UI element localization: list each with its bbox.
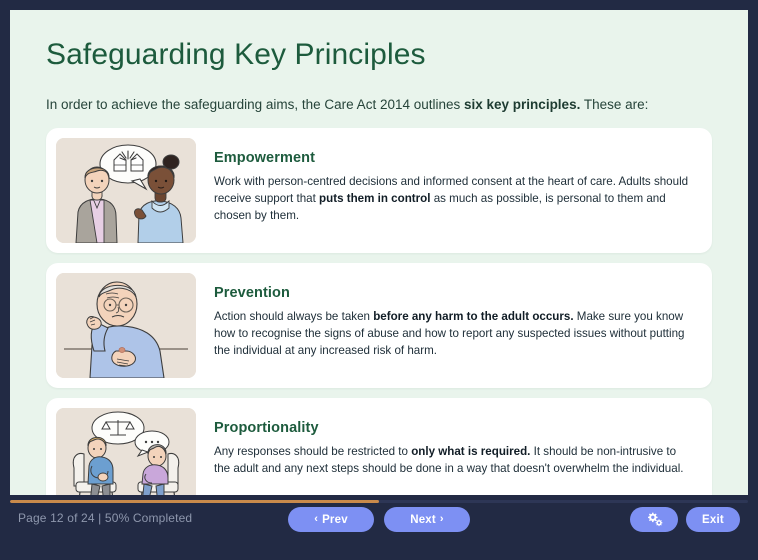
player-navigation-bar: Page 12 of 24 | 50% Completed ‹ Prev Nex… — [0, 495, 758, 560]
principle-description: Any responses should be restricted to on… — [214, 443, 690, 477]
next-button[interactable]: Next › — [384, 507, 470, 532]
prev-button[interactable]: ‹ Prev — [288, 507, 374, 532]
principle-card: Prevention Action should always be taken… — [46, 263, 712, 388]
chevron-left-icon: ‹ — [314, 514, 318, 525]
seated-consultation-scales-illustration — [56, 408, 196, 495]
prev-button-label: Prev — [322, 514, 348, 526]
center-navigation-group: ‹ Prev Next › — [288, 507, 470, 532]
gears-icon — [646, 512, 663, 527]
principle-description: Action should always be taken before any… — [214, 308, 690, 359]
page-title: Safeguarding Key Principles — [46, 38, 712, 73]
principle-body: Empowerment Work with person-centred dec… — [196, 138, 702, 224]
exit-button[interactable]: Exit — [686, 507, 740, 532]
course-player-frame: Safeguarding Key Principles In order to … — [0, 0, 758, 560]
slide-content-area: Safeguarding Key Principles In order to … — [10, 10, 748, 495]
principle-heading: Proportionality — [214, 420, 690, 436]
utility-navigation-group: Exit — [630, 507, 740, 532]
page-status-text: Page 12 of 24 | 50% Completed — [18, 511, 192, 525]
intro-suffix: These are: — [580, 97, 648, 112]
exit-button-label: Exit — [702, 514, 724, 526]
course-progress-fill — [10, 500, 379, 503]
principle-body: Proportionality Any responses should be … — [196, 408, 702, 477]
settings-button[interactable] — [630, 507, 678, 532]
intro-paragraph: In order to achieve the safeguarding aim… — [46, 95, 712, 115]
intro-emphasis: six key principles. — [464, 97, 580, 112]
principle-heading: Empowerment — [214, 150, 690, 166]
principle-body: Prevention Action should always be taken… — [196, 273, 702, 359]
intro-prefix: In order to achieve the safeguarding aim… — [46, 97, 464, 112]
chevron-right-icon: › — [440, 514, 444, 525]
next-button-label: Next — [410, 514, 436, 526]
course-progress-bar[interactable] — [10, 500, 748, 503]
distressed-elderly-man-illustration — [56, 273, 196, 378]
principle-card: Proportionality Any responses should be … — [46, 398, 712, 495]
principle-heading: Prevention — [214, 285, 690, 301]
two-people-conversation-illustration — [56, 138, 196, 243]
principle-description: Work with person-centred decisions and i… — [214, 173, 690, 224]
principle-card: Empowerment Work with person-centred dec… — [46, 128, 712, 253]
